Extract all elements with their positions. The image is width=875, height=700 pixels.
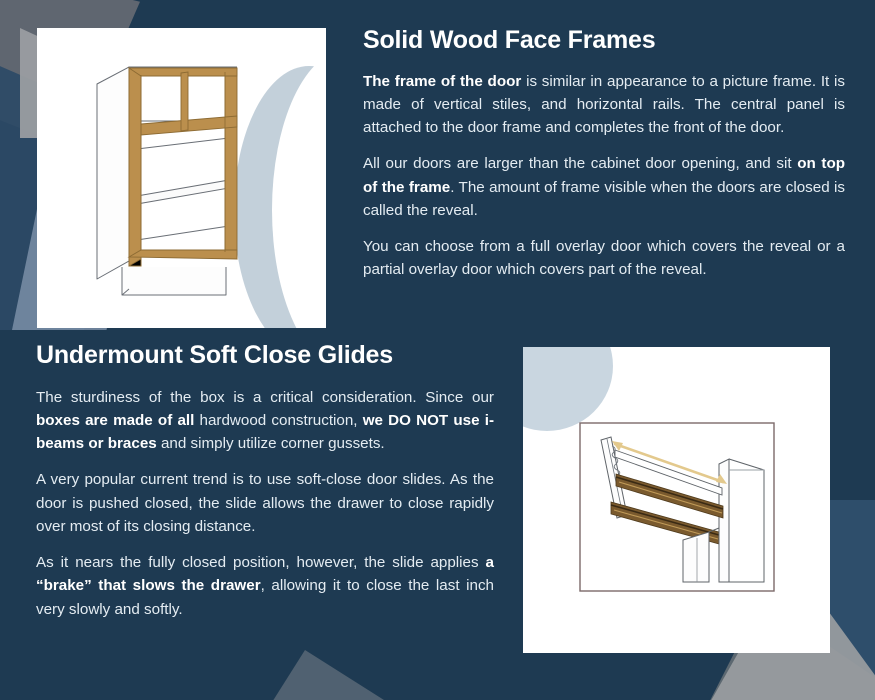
page-root: Solid Wood Face Frames The frame of the … — [0, 0, 875, 700]
soft-close-glides-paragraphs: The sturdiness of the box is a critical … — [36, 386, 494, 621]
soft-close-glides-text-block: Undermount Soft Close Glides The sturdin… — [36, 341, 494, 621]
decorative-circle-light-blue — [523, 347, 613, 431]
emphasis-text: boxes are made of all — [36, 412, 194, 429]
face-frames-heading: Solid Wood Face Frames — [363, 26, 845, 56]
body-text-run: hardwood construction, — [194, 412, 362, 429]
paragraph: The frame of the door is similar in appe… — [363, 70, 845, 140]
cabinet-face-frame-illustration — [89, 54, 271, 299]
body-text-run: The sturdiness of the box is a critical … — [36, 389, 494, 406]
body-text-run: and simply utilize corner gussets. — [157, 435, 385, 452]
body-text-run: You can choose from a full overlay door … — [363, 238, 845, 278]
paragraph: The sturdiness of the box is a critical … — [36, 386, 494, 456]
soft-close-glides-heading: Undermount Soft Close Glides — [36, 341, 494, 371]
paragraph: You can choose from a full overlay door … — [363, 235, 845, 282]
body-text-run: All our doors are larger than the cabine… — [363, 155, 797, 172]
body-text-run: A very popular current trend is to use s… — [36, 471, 494, 535]
face-frames-paragraphs: The frame of the door is similar in appe… — [363, 70, 845, 282]
undermount-drawer-slide-illustration — [579, 422, 775, 592]
face-frame-image-panel — [37, 28, 326, 328]
face-frames-text-block: Solid Wood Face Frames The frame of the … — [363, 26, 845, 282]
soft-close-glides-image-panel — [523, 347, 830, 653]
paragraph: All our doors are larger than the cabine… — [363, 152, 845, 222]
paragraph: As it nears the fully closed position, h… — [36, 551, 494, 621]
paragraph: A very popular current trend is to use s… — [36, 468, 494, 538]
emphasis-text: The frame of the door — [363, 73, 521, 90]
decorative-shape-bottom-middle-gray — [245, 650, 395, 700]
body-text-run: As it nears the fully closed position, h… — [36, 554, 486, 571]
